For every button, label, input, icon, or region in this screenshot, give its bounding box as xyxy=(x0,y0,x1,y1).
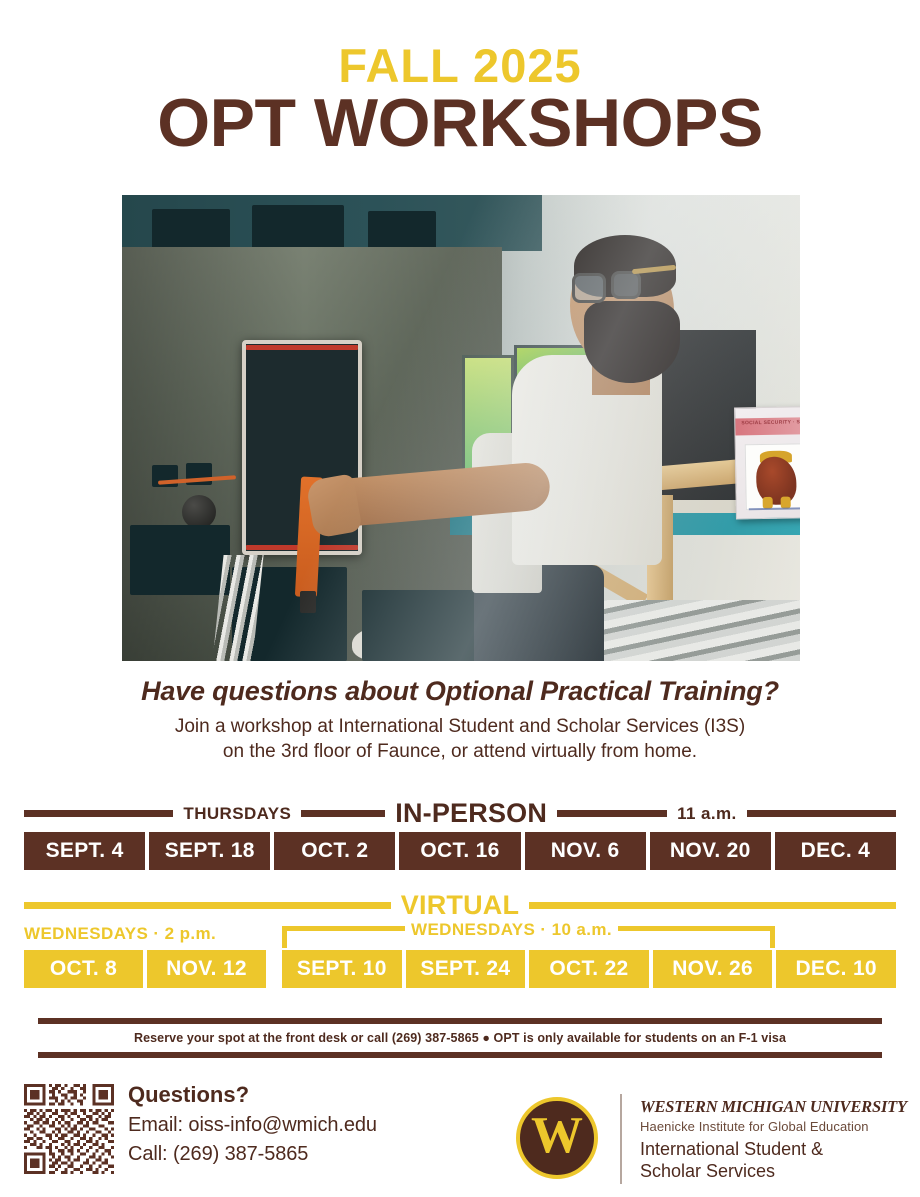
in-person-date-chip-3[interactable]: OCT. 2 xyxy=(274,832,395,870)
in-person-date-chip-6[interactable]: NOV. 20 xyxy=(650,832,771,870)
wmu-university-name: WESTERN MICHIGAN UNIVERSITY xyxy=(640,1097,907,1117)
strip-rule-bottom xyxy=(38,1052,882,1058)
qr-code-icon[interactable] xyxy=(24,1084,114,1174)
rule-segment xyxy=(747,810,896,817)
virtual-a-date-chip-2[interactable]: NOV. 12 xyxy=(147,950,266,988)
email-line[interactable]: Email: oiss-info@wmich.edu xyxy=(128,1114,377,1137)
rule-segment xyxy=(529,902,896,909)
wmu-seal-letter: W xyxy=(531,1110,583,1162)
rule-segment xyxy=(301,810,385,817)
bracket-arm-right xyxy=(770,926,775,948)
bracket-bar-right xyxy=(618,926,770,931)
virtual-group-a-label: WEDNESDAYS · 2 p.m. xyxy=(24,924,274,944)
bracket-bar-left xyxy=(287,926,405,931)
virtual-date-rows: OCT. 8NOV. 12 SEPT. 10SEPT. 24OCT. 22NOV… xyxy=(24,950,896,988)
in-person-date-chip-7[interactable]: DEC. 4 xyxy=(775,832,896,870)
page-title: OPT WORKSHOPS xyxy=(0,88,920,159)
bronco-mascot-icon xyxy=(745,443,800,510)
virtual-group-b-dates: SEPT. 10SEPT. 24OCT. 22NOV. 26DEC. 10 xyxy=(282,950,896,988)
opt-workshops-flyer: FALL 2025 OPT WORKSHOPS xyxy=(0,0,920,1197)
strip-rule-top xyxy=(38,1018,882,1024)
subhead-line-1: Join a workshop at International Student… xyxy=(0,714,920,739)
in-person-date-row: SEPT. 4SEPT. 18OCT. 2OCT. 16NOV. 6NOV. 2… xyxy=(24,832,896,870)
wmu-unit-name-line2: Scholar Services xyxy=(640,1161,907,1183)
virtual-header: VIRTUAL xyxy=(24,890,896,921)
virtual-b-date-chip-5[interactable]: DEC. 10 xyxy=(776,950,896,988)
virtual-group-b-label: WEDNESDAYS · 10 a.m. xyxy=(405,921,618,938)
subhead-block: Have questions about Optional Practical … xyxy=(0,676,920,764)
rule-segment xyxy=(557,810,667,817)
virtual-b-date-chip-3[interactable]: OCT. 22 xyxy=(529,950,649,988)
in-person-day-label: THURSDAYS xyxy=(183,804,291,824)
in-person-time-label: 11 a.m. xyxy=(677,804,737,824)
hero-photo: SOCIAL SECURITY · SPECIMEN DOCUMENT xyxy=(122,195,800,661)
photo-illustration xyxy=(122,195,800,661)
wmu-seal-icon: W xyxy=(516,1097,598,1179)
in-person-date-chip-4[interactable]: OCT. 16 xyxy=(399,832,520,870)
rule-segment xyxy=(24,902,391,909)
logo-divider xyxy=(620,1094,622,1184)
virtual-b-date-chip-2[interactable]: SEPT. 24 xyxy=(406,950,526,988)
virtual-a-date-chip-1[interactable]: OCT. 8 xyxy=(24,950,143,988)
virtual-group-b-bracket: WEDNESDAYS · 10 a.m. xyxy=(282,926,896,948)
wmu-wordmark: WESTERN MICHIGAN UNIVERSITY Haenicke Ins… xyxy=(640,1097,907,1183)
wmu-logo-lockup: W WESTERN MICHIGAN UNIVERSITY Haenicke I… xyxy=(516,1080,907,1184)
footer: Questions? Email: oiss-info@wmich.edu Ca… xyxy=(0,1072,920,1197)
virtual-group-a-dates: OCT. 8NOV. 12 xyxy=(24,950,266,988)
social-security-card-overlay: SOCIAL SECURITY · SPECIMEN DOCUMENT xyxy=(734,405,800,520)
reserve-strip-text: Reserve your spot at the front desk or c… xyxy=(0,1031,920,1045)
in-person-date-chip-1[interactable]: SEPT. 4 xyxy=(24,832,145,870)
virtual-b-date-chip-1[interactable]: SEPT. 10 xyxy=(282,950,402,988)
eyebrow-title: FALL 2025 xyxy=(0,42,920,90)
rule-segment xyxy=(24,810,173,817)
in-person-section-label: IN-PERSON xyxy=(395,798,547,829)
wmu-institute-name: Haenicke Institute for Global Education xyxy=(640,1119,907,1134)
subhead-line-2: on the 3rd floor of Faunce, or attend vi… xyxy=(0,739,920,764)
in-person-date-chip-5[interactable]: NOV. 6 xyxy=(525,832,646,870)
questions-block: Questions? Email: oiss-info@wmich.edu Ca… xyxy=(128,1082,377,1166)
virtual-b-date-chip-4[interactable]: NOV. 26 xyxy=(653,950,773,988)
in-person-header: THURSDAYS IN-PERSON 11 a.m. xyxy=(24,798,896,829)
phone-line[interactable]: Call: (269) 387-5865 xyxy=(128,1143,377,1166)
in-person-date-chip-2[interactable]: SEPT. 18 xyxy=(149,832,270,870)
virtual-section-label: VIRTUAL xyxy=(401,890,519,921)
wmu-unit-name-line1: International Student & xyxy=(640,1139,907,1161)
subhead-question: Have questions about Optional Practical … xyxy=(0,676,920,707)
questions-title: Questions? xyxy=(128,1082,377,1108)
title-block: FALL 2025 OPT WORKSHOPS xyxy=(0,0,920,159)
